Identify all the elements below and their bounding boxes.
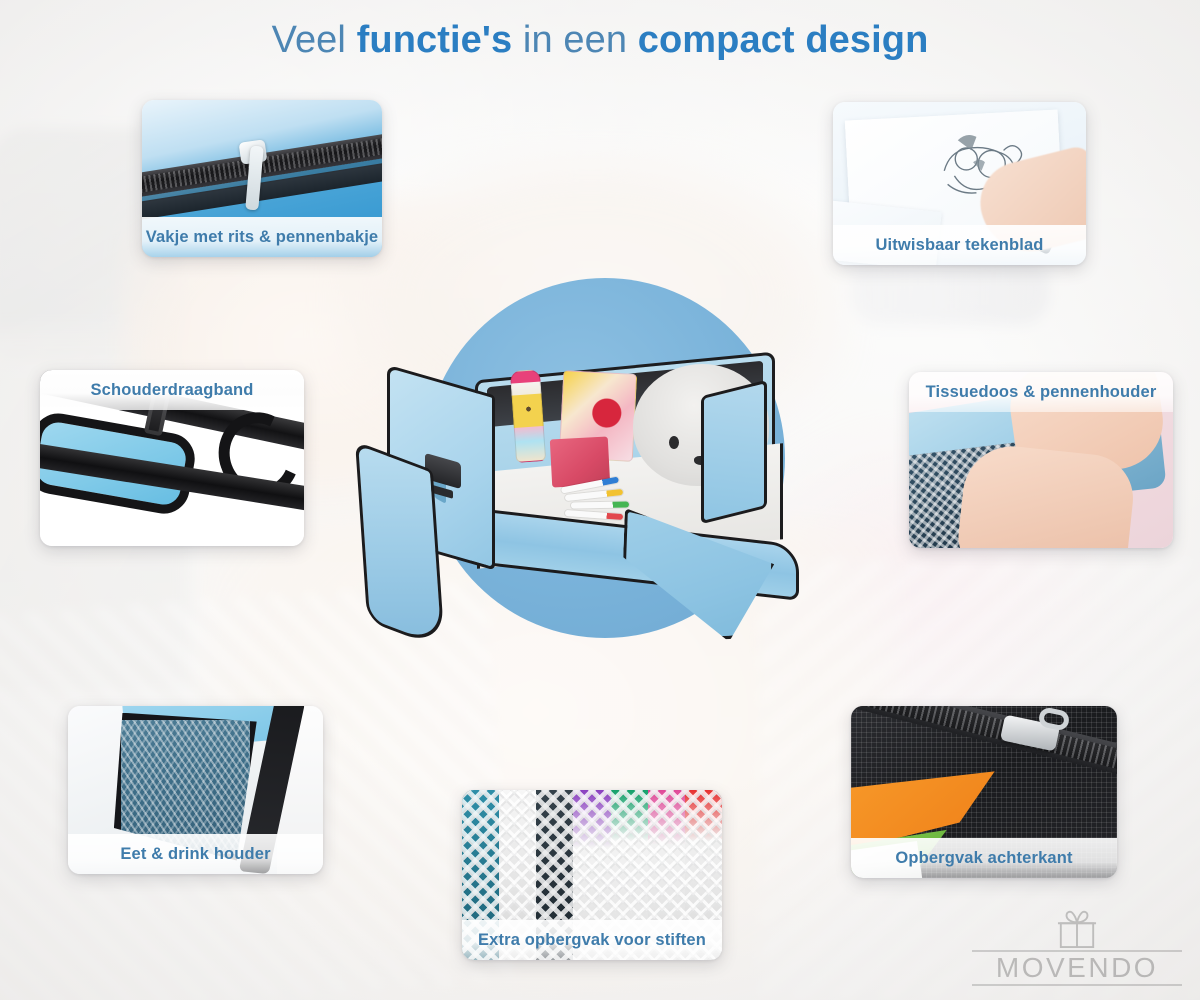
tray-right-wall: [701, 380, 767, 524]
gift-box-icon: [1054, 908, 1100, 948]
drink-bottle-item: [510, 369, 546, 463]
title-part-4: compact design: [638, 19, 929, 61]
tray-left-flap: [355, 441, 445, 650]
travel-tray-illustration: [365, 330, 860, 690]
feature-card-tissuedoos-pennenhouder[interactable]: Tissuedoos & pennenhouder: [909, 372, 1173, 548]
feature-card-caption: Opbergvak achterkant: [851, 838, 1117, 878]
brand-word-row: [972, 950, 1182, 952]
brand-word-row-bottom: [972, 984, 1182, 986]
feature-card-caption: Extra opbergvak voor stiften: [462, 920, 722, 960]
logo-rule-left: [972, 950, 1182, 952]
feature-card-uitwisbaar-tekenblad[interactable]: Uitwisbaar tekenblad: [833, 102, 1086, 265]
title-part-1: Veel: [272, 19, 357, 61]
feature-card-caption: Tissuedoos & pennenhouder: [909, 372, 1173, 412]
feature-card-caption: Vakje met rits & pennenbakje: [142, 217, 382, 257]
feature-card-vakje-met-rits[interactable]: Vakje met rits & pennenbakje: [142, 100, 382, 257]
feature-card-eet-drink-houder[interactable]: Eet & drink houder: [68, 706, 323, 874]
plush-eye-left: [669, 436, 679, 449]
marker-pen-green: [571, 501, 629, 508]
hero-product-image: [425, 278, 785, 698]
infographic-canvas: Veel functie's in een compact design: [0, 0, 1200, 1000]
logo-rule-right: [972, 984, 1182, 986]
feature-card-schouderdraagband[interactable]: Schouderdraagband: [40, 370, 304, 546]
title-part-2: functie's: [357, 19, 513, 61]
feature-card-extra-opbergvak-stiften[interactable]: Extra opbergvak voor stiften: [462, 790, 722, 960]
title-part-3: in een: [512, 19, 637, 61]
brand-watermark: MOVENDO: [972, 900, 1182, 986]
feature-card-caption: Eet & drink houder: [68, 834, 323, 874]
feature-card-caption: Uitwisbaar tekenblad: [833, 225, 1086, 265]
feature-card-opbergvak-achterkant[interactable]: Opbergvak achterkant: [851, 706, 1117, 878]
page-title: Veel functie's in een compact design: [0, 19, 1200, 62]
brand-name: MOVENDO: [996, 952, 1158, 984]
feature-card-caption: Schouderdraagband: [40, 370, 304, 410]
